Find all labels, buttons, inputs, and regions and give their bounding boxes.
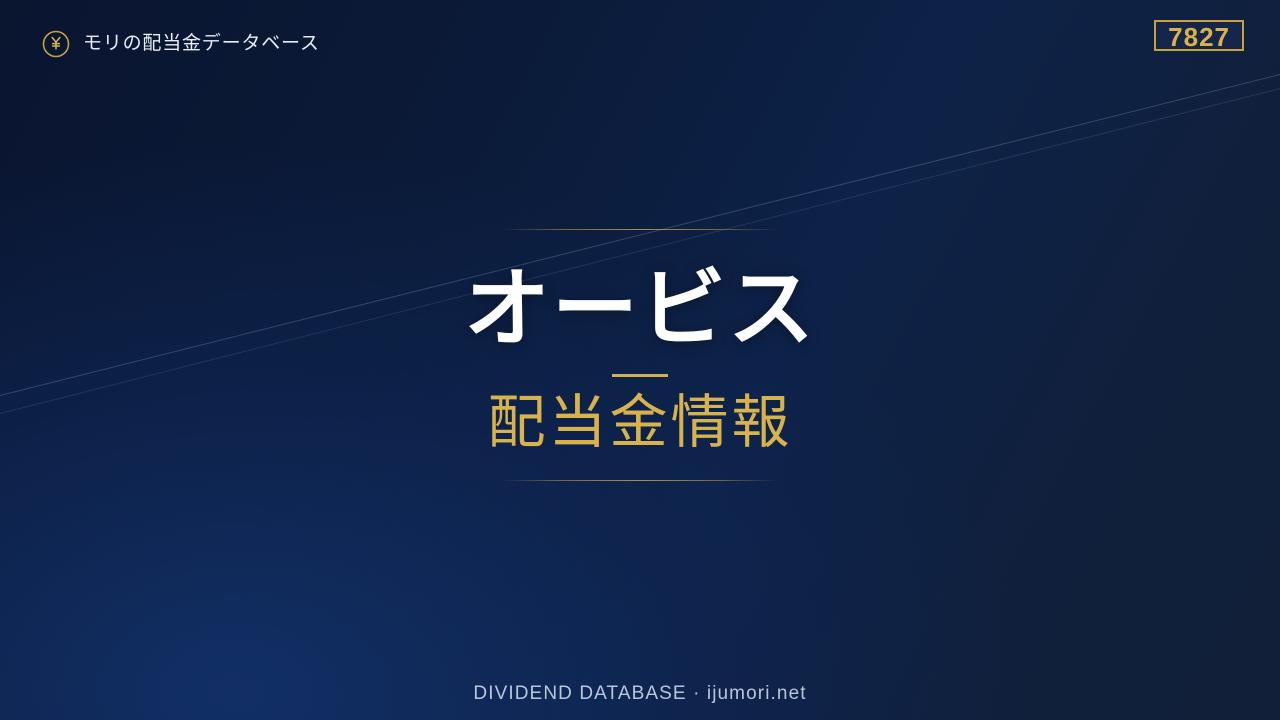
hero-section: オービス 配当金情報 [0, 0, 1280, 720]
footer-attribution: DIVIDEND DATABASE · ijumori.net [473, 683, 806, 706]
slide-footer: DIVIDEND DATABASE · ijumori.net [0, 683, 1280, 706]
hero-stack: オービス 配当金情報 [464, 229, 816, 481]
company-name-title: オービス [464, 266, 816, 352]
hero-rule-top [503, 229, 777, 230]
gold-divider [612, 374, 668, 377]
hero-rule-bottom [503, 480, 777, 481]
title-slide: モリの配当金データベース 7827 オービス 配当金情報 DIVIDEND DA… [0, 0, 1280, 720]
hero-subtitle: 配当金情報 [487, 393, 792, 454]
